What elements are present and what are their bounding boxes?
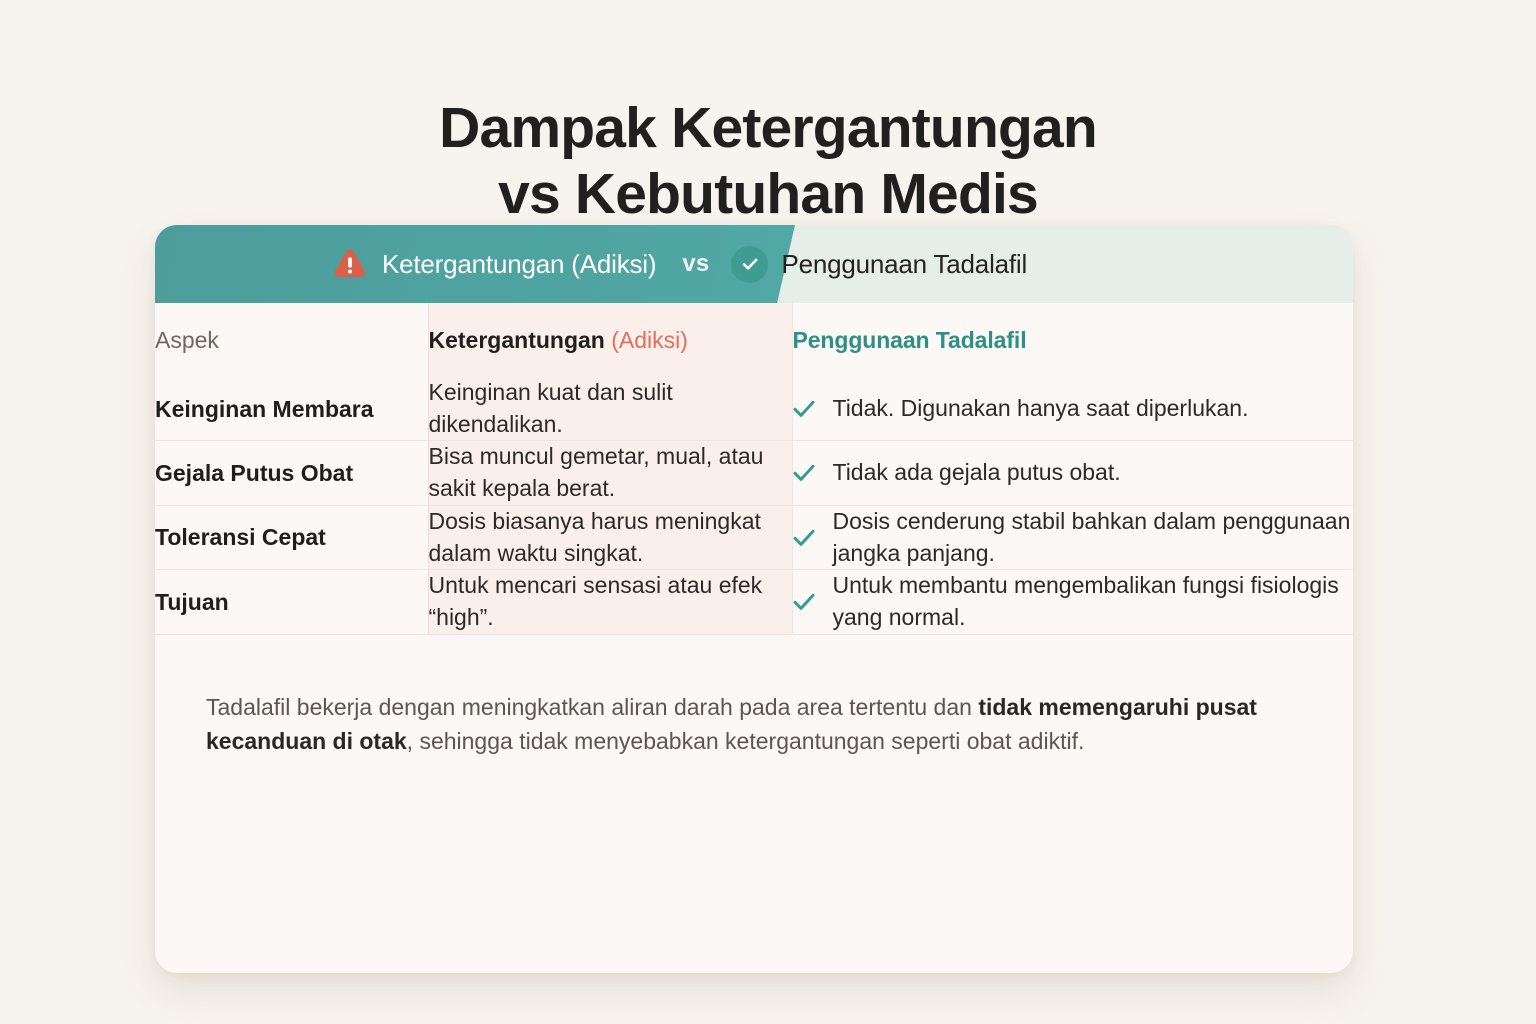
table-row: Gejala Putus Obat Bisa muncul gemetar, m… (155, 441, 1353, 505)
page-title: Dampak Ketergantungan vs Kebutuhan Medis (0, 96, 1536, 227)
header-addiction-chip: Ketergantungan (Adiksi) (331, 245, 656, 283)
row-tadalafil-text: Untuk membantu mengembalikan fungsi fisi… (833, 570, 1354, 633)
card-header: Ketergantungan (Adiksi) vs Penggunaan Ta… (155, 225, 1353, 303)
row-addiction-text: Untuk mencari sensasi atau efek “high”. (428, 570, 792, 634)
row-tadalafil-text: Tidak. Digunakan hanya saat diperlukan. (833, 393, 1249, 425)
page-title-line-1: Dampak Ketergantungan (439, 96, 1097, 160)
row-tadalafil-cell: Untuk membantu mengembalikan fungsi fisi… (792, 570, 1353, 634)
table-row: Keinginan Membara Keinginan kuat dan sul… (155, 377, 1353, 441)
footer-note-part-1: Tadalafil bekerja dengan meningkatkan al… (206, 694, 978, 720)
header-vs-label: vs (682, 250, 709, 278)
row-addiction-text: Dosis biasanya harus meningkat dalam wak… (428, 505, 792, 569)
check-icon (793, 464, 815, 482)
column-header-tadalafil: Penggunaan Tadalafil (792, 303, 1353, 377)
row-tadalafil-cell: Tidak. Digunakan hanya saat diperlukan. (792, 377, 1353, 441)
check-icon (793, 593, 815, 611)
header-tadalafil-label: Penggunaan Tadalafil (781, 249, 1027, 280)
row-tadalafil-cell: Tidak ada gejala putus obat. (792, 441, 1353, 505)
header-addiction-label: Ketergantungan (Adiksi) (382, 249, 656, 280)
footer-note: Tadalafil bekerja dengan meningkatkan al… (155, 658, 1353, 759)
check-icon (793, 529, 815, 547)
table-row: Toleransi Cepat Dosis biasanya harus men… (155, 505, 1353, 569)
row-addiction-text: Keinginan kuat dan sulit dikendalikan. (428, 377, 792, 441)
column-header-addiction-paren: (Adiksi) (611, 327, 688, 353)
check-icon (793, 400, 815, 418)
page-title-line-2: vs Kebutuhan Medis (0, 162, 1536, 228)
row-tadalafil-text: Tidak ada gejala putus obat. (833, 457, 1121, 489)
row-addiction-text: Bisa muncul gemetar, mual, atau sakit ke… (428, 441, 792, 505)
comparison-table: Aspek Ketergantungan (Adiksi) Penggunaan… (155, 303, 1353, 635)
header-tadalafil-chip: Penggunaan Tadalafil (731, 246, 1027, 283)
column-header-addiction: Ketergantungan (Adiksi) (428, 303, 792, 377)
warning-triangle-icon (331, 245, 369, 283)
column-header-addiction-strong: Ketergantungan (429, 327, 605, 353)
row-tadalafil-cell: Dosis cenderung stabil bahkan dalam peng… (792, 505, 1353, 569)
row-aspect-label: Keinginan Membara (155, 377, 428, 441)
table-row: Tujuan Untuk mencari sensasi atau efek “… (155, 570, 1353, 634)
row-aspect-label: Gejala Putus Obat (155, 441, 428, 505)
column-header-aspect: Aspek (155, 303, 428, 377)
check-circle-icon (731, 246, 768, 283)
row-aspect-label: Toleransi Cepat (155, 505, 428, 569)
row-aspect-label: Tujuan (155, 570, 428, 634)
row-tadalafil-text: Dosis cenderung stabil bahkan dalam peng… (833, 506, 1354, 569)
comparison-card: Ketergantungan (Adiksi) vs Penggunaan Ta… (155, 225, 1353, 973)
table-header-row: Aspek Ketergantungan (Adiksi) Penggunaan… (155, 303, 1353, 377)
footer-note-part-2: , sehingga tidak menyebabkan ketergantun… (407, 728, 1085, 754)
